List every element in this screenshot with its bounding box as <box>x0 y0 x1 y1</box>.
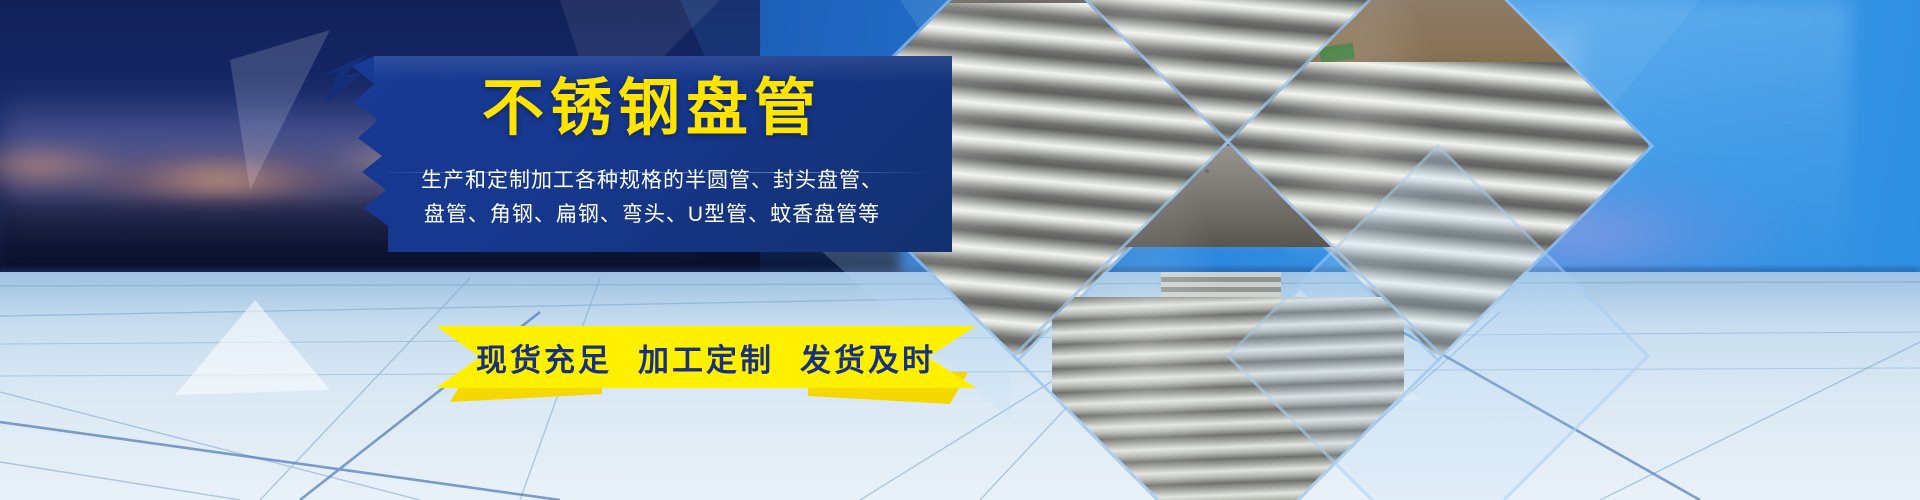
subtitle-line-2: 盘管、角钢、扁钢、弯头、U型管、蚊香盘管等 <box>352 198 952 232</box>
page-subtitle: 生产和定制加工各种规格的半圆管、封头盘管、 盘管、角钢、扁钢、弯头、U型管、蚊香… <box>352 164 952 232</box>
ribbon-item-stock: 现货充足 <box>476 335 612 380</box>
feature-ribbon: 现货充足 加工定制 发货及时 <box>436 326 976 388</box>
product-hero-banner: 不锈钢盘管 生产和定制加工各种规格的半圆管、封头盘管、 盘管、角钢、扁钢、弯头、… <box>0 0 1920 500</box>
page-title: 不锈钢盘管 <box>352 78 952 140</box>
ribbon-text-group: 现货充足 加工定制 发货及时 <box>436 326 976 388</box>
title-plaque: 不锈钢盘管 生产和定制加工各种规格的半圆管、封头盘管、 盘管、角钢、扁钢、弯头、… <box>352 56 952 252</box>
subtitle-line-1: 生产和定制加工各种规格的半圆管、封头盘管、 <box>352 164 952 198</box>
ribbon-item-shipping: 发货及时 <box>800 335 936 380</box>
ribbon-item-custom: 加工定制 <box>638 335 774 380</box>
